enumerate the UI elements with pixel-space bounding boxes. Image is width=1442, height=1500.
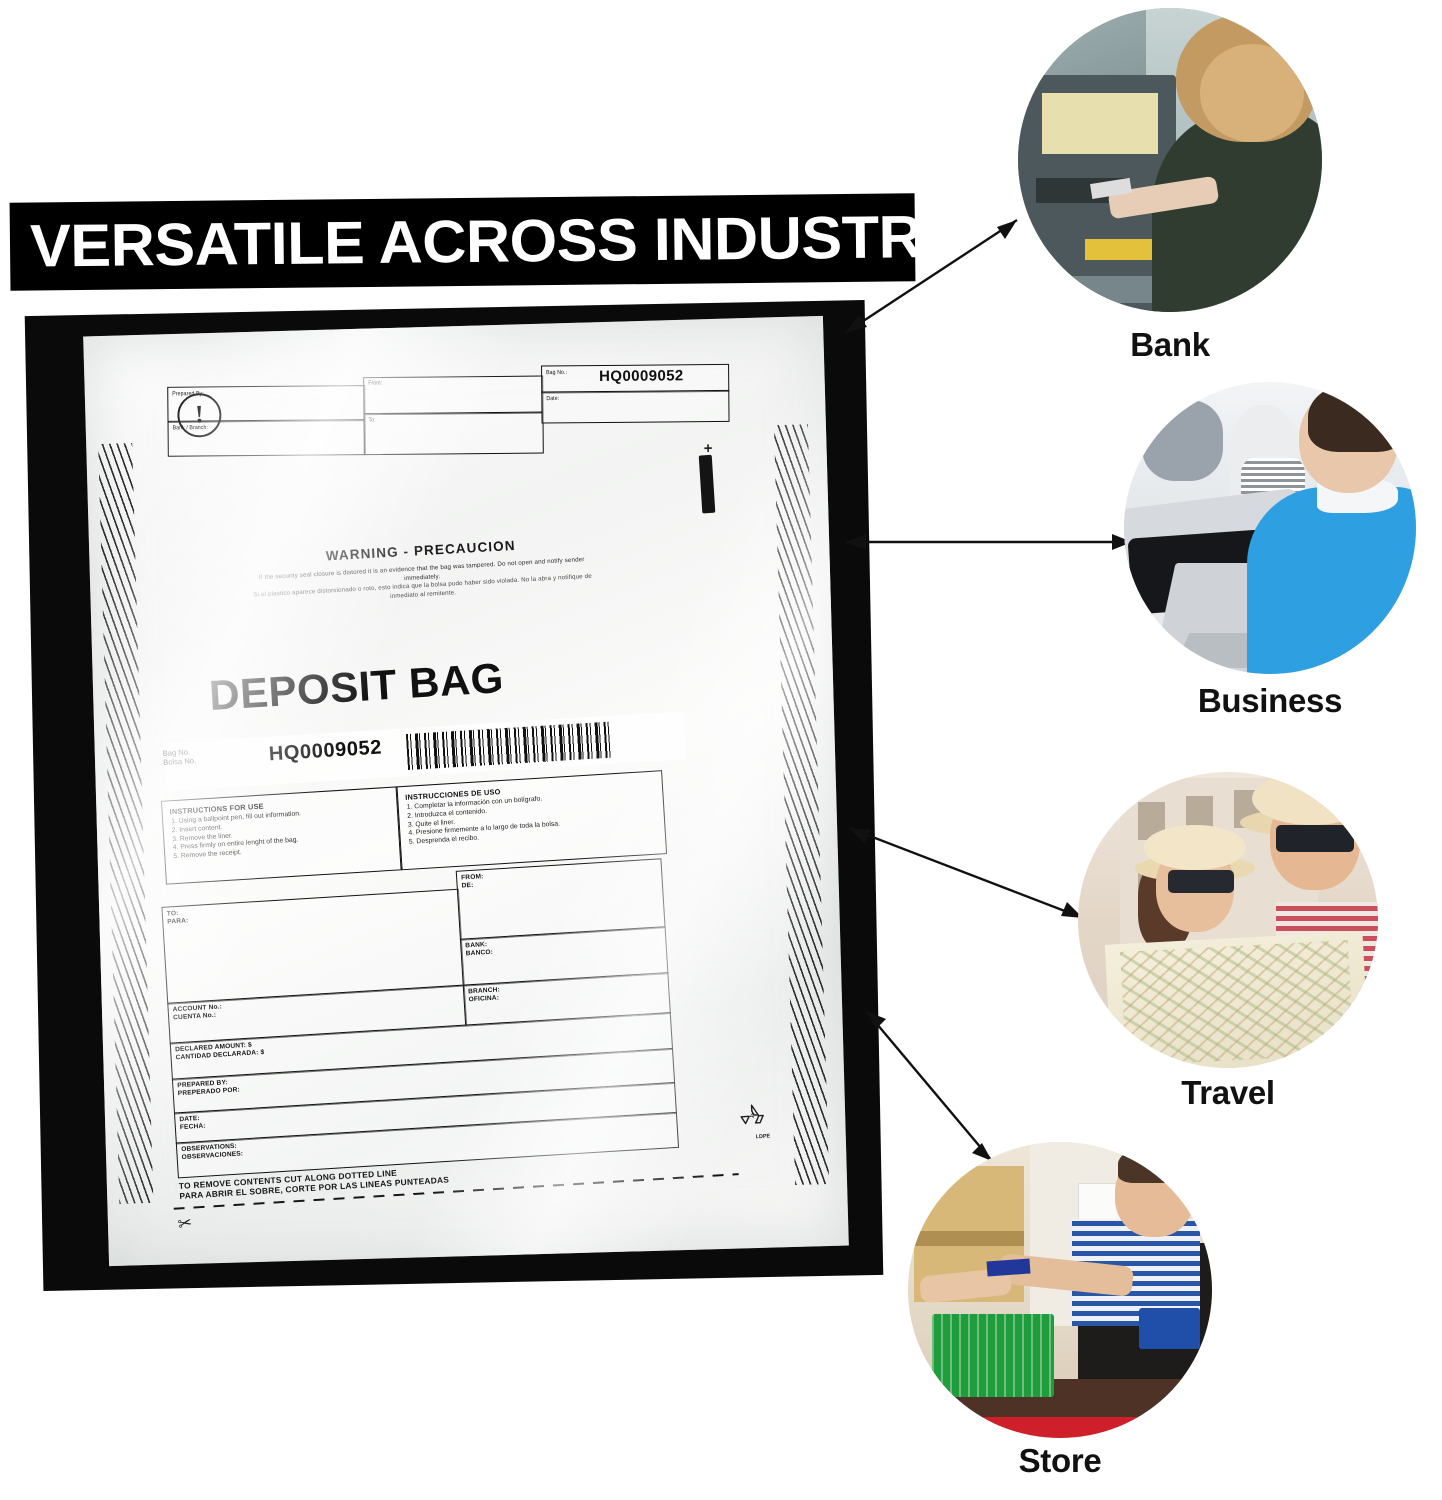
arrow-to-business: [840, 528, 1140, 554]
cashier-taking-card-photo: [908, 1142, 1212, 1438]
field-label-de: DE:: [461, 882, 473, 891]
receipt-stub: Prepared By: Bank / Branch: From: To: Ba…: [167, 364, 728, 464]
receipt-cell-from: [363, 376, 543, 416]
security-seal-tab: [699, 455, 716, 514]
deposit-bag: Prepared By: Bank / Branch: From: To: Ba…: [83, 316, 849, 1266]
receipt-label-from: From:: [368, 380, 382, 387]
scissors-icon: ✂: [176, 1213, 194, 1235]
arrow-to-travel: [845, 818, 1095, 928]
category-label-business: Business: [1124, 682, 1416, 720]
receipt-cell-to: [363, 412, 543, 456]
instructions-box-english: INSTRUCTIONS FOR USE 1. Using a ballpoin…: [161, 786, 402, 884]
couple-with-map-photo: [1078, 772, 1378, 1068]
warning-block: WARNING - PRECAUCION If the security sea…: [241, 533, 604, 609]
arrow-to-bank: [845, 215, 1025, 335]
instructions-box-spanish: INSTRUCCIONES DE USO 1. Completar la inf…: [396, 770, 667, 870]
field-label-fecha: FECHA:: [180, 1123, 206, 1133]
woman-using-atm-photo: [1018, 8, 1322, 312]
deposit-bag-title: DEPOSIT BAG: [208, 654, 505, 720]
category-business: Business: [1124, 382, 1442, 752]
bag-number-label: Bag No. Bolsa No.: [162, 747, 196, 768]
product-image-area: Prepared By: Bank / Branch: From: To: Ba…: [34, 300, 879, 1290]
field-label-para: PARA:: [167, 917, 189, 926]
field-label-banco: BANCO:: [466, 949, 494, 959]
headline-banner: VERSATILE ACROSS INDUSTRIES: [10, 193, 916, 290]
recycle-code: 4: [750, 1111, 756, 1120]
receipt-label-to: To:: [368, 417, 375, 424]
page-title: VERSATILE ACROSS INDUSTRIES: [30, 205, 928, 278]
woman-with-laptop-airport-photo: [1124, 382, 1416, 674]
bag-printed-panel: Prepared By: Bank / Branch: From: To: Ba…: [140, 335, 793, 1240]
receipt-label-date: Date:: [546, 395, 559, 402]
receipt-label-bagno: Bag No.:: [546, 369, 567, 376]
category-store: Store: [908, 1142, 1238, 1492]
receipt-cell-date: [541, 390, 729, 424]
address-form: TO: PARA: FROM: DE: BANK: BANCO: ACCOUNT…: [160, 858, 676, 1158]
category-travel: Travel: [1078, 772, 1398, 1142]
recycle-ldpe-icon: 4: [736, 1101, 768, 1133]
category-bank: Bank: [1018, 8, 1438, 378]
receipt-bag-number: HQ0009052: [599, 367, 684, 385]
recycle-material-label: LDPE: [755, 1133, 770, 1140]
category-label-store: Store: [908, 1442, 1212, 1480]
category-label-bank: Bank: [1018, 326, 1322, 364]
category-label-travel: Travel: [1078, 1074, 1378, 1112]
